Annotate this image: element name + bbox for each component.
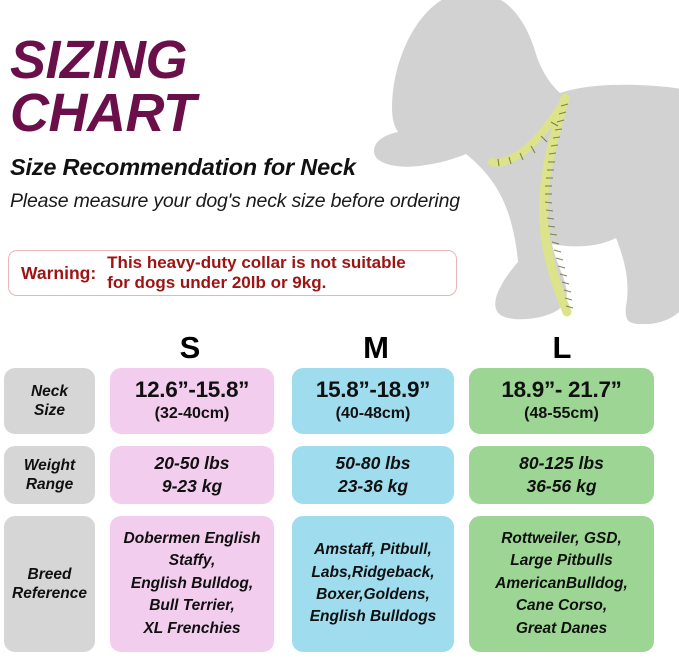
- page-title: SIZING CHART Size Recommendation for Nec…: [10, 34, 480, 213]
- table-row-weight-range: Weight Range 20-50 lbs 9-23 kg 50-80 lbs…: [0, 446, 679, 504]
- cell-neck-size-m: 15.8”-18.9” (40-48cm): [292, 368, 454, 434]
- row-label-breed-reference: Breed Reference: [4, 516, 95, 652]
- breed-line: Cane Corso,: [495, 595, 628, 617]
- breed-line: AmericanBulldog,: [495, 573, 628, 595]
- size-table: Neck Size 12.6”-15.8” (32-40cm) 15.8”-18…: [0, 368, 679, 664]
- subtitle: Size Recommendation for Neck: [10, 154, 480, 181]
- warning-line-1: This heavy-duty collar is not suitable: [107, 253, 406, 273]
- measuring-tape-icon: [492, 98, 573, 312]
- size-header-s: S: [106, 330, 274, 364]
- header-gap-2: [460, 330, 478, 364]
- cell-neck-size-s: 12.6”-15.8” (32-40cm): [110, 368, 274, 434]
- table-row-breed-reference: Breed Reference Dobermen EnglishStaffy,E…: [0, 516, 679, 652]
- breed-line: Great Danes: [495, 618, 628, 640]
- cell-breed-reference-m: Amstaff, Pitbull,Labs,Ridgeback,Boxer,Go…: [292, 516, 454, 652]
- cell-weight-range-m: 50-80 lbs 23-36 kg: [292, 446, 454, 504]
- warning-message: This heavy-duty collar is not suitable f…: [107, 253, 406, 292]
- measure-note: Please measure your dog's neck size befo…: [10, 190, 480, 213]
- title-line-2: CHART: [10, 87, 480, 140]
- breed-line: Dobermen English: [124, 528, 261, 550]
- breed-line: Rottweiler, GSD,: [495, 528, 628, 550]
- breed-line: English Bulldog,: [124, 573, 261, 595]
- cell-breed-reference-l: Rottweiler, GSD,Large PitbullsAmericanBu…: [469, 516, 654, 652]
- size-header-l: L: [478, 330, 646, 364]
- breed-line: Bull Terrier,: [124, 595, 261, 617]
- tape-ticks: [498, 104, 573, 308]
- title-line-1: SIZING: [10, 34, 480, 87]
- warning-line-2: for dogs under 20lb or 9kg.: [107, 273, 406, 293]
- size-header-row: S M L: [0, 330, 679, 364]
- breed-line: XL Frenchies: [124, 618, 261, 640]
- warning-label: Warning:: [21, 263, 96, 284]
- table-row-neck-size: Neck Size 12.6”-15.8” (32-40cm) 15.8”-18…: [0, 368, 679, 434]
- cell-weight-range-s: 20-50 lbs 9-23 kg: [110, 446, 274, 504]
- breed-line: Staffy,: [124, 550, 261, 572]
- row-label-weight-range: Weight Range: [4, 446, 95, 504]
- breed-line: Boxer,Goldens,: [310, 584, 437, 606]
- breed-line: Amstaff, Pitbull,: [310, 539, 437, 561]
- cell-neck-size-l: 18.9”- 21.7” (48-55cm): [469, 368, 654, 434]
- breed-line: Labs,Ridgeback,: [310, 562, 437, 584]
- header-spacer: [0, 330, 106, 364]
- row-label-neck-size: Neck Size: [4, 368, 95, 434]
- warning-box: Warning: This heavy-duty collar is not s…: [8, 250, 457, 296]
- header-gap-1: [274, 330, 292, 364]
- size-header-m: M: [292, 330, 460, 364]
- sizing-chart-page: SIZING CHART Size Recommendation for Nec…: [0, 0, 679, 672]
- cell-breed-reference-s: Dobermen EnglishStaffy,English Bulldog,B…: [110, 516, 274, 652]
- breed-line: English Bulldogs: [310, 606, 437, 628]
- breed-line: Large Pitbulls: [495, 550, 628, 572]
- cell-weight-range-l: 80-125 lbs 36-56 kg: [469, 446, 654, 504]
